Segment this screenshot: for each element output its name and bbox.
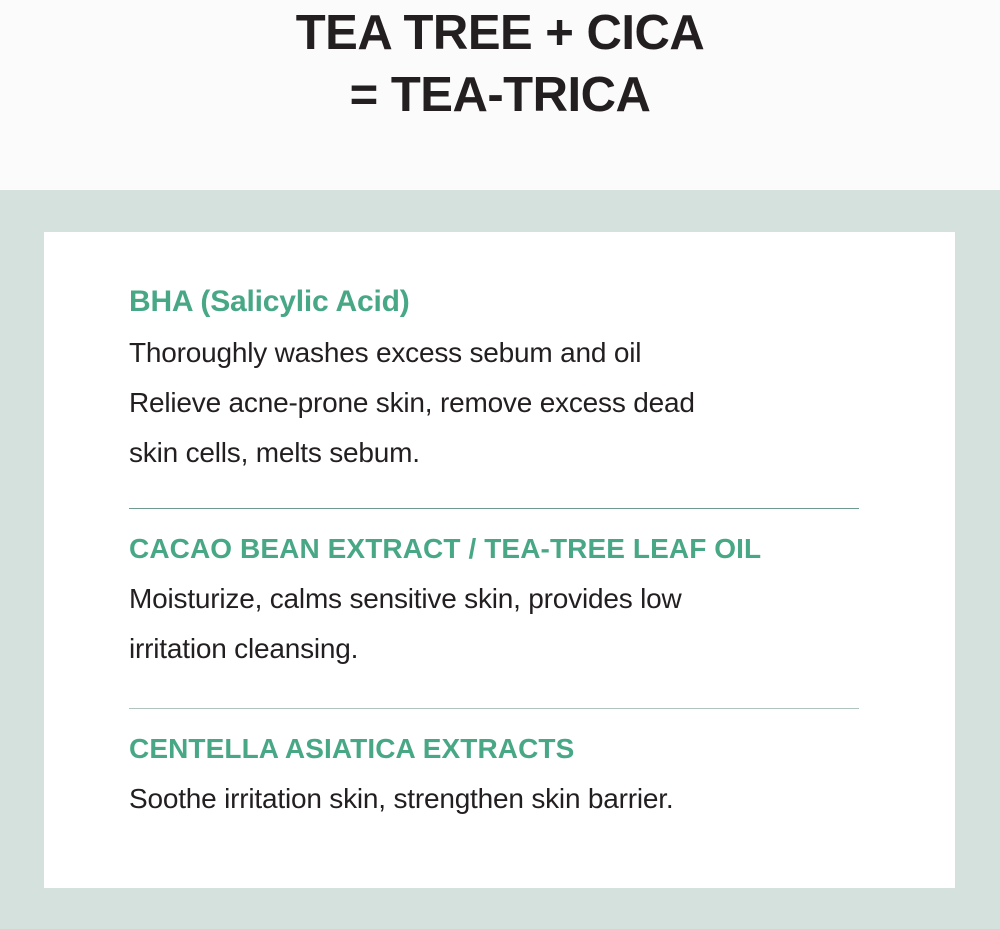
- ingredient-description-cacao-teatree: Moisturize, calms sensitive skin, provid…: [129, 574, 869, 674]
- product-ingredient-infographic: TEA TREE + CICA = TEA-TRICA BHA (Salicyl…: [0, 0, 1000, 929]
- section-divider-2: [129, 708, 859, 709]
- description-line: irritation cleansing.: [129, 624, 869, 674]
- description-line: skin cells, melts sebum.: [129, 428, 869, 478]
- page-title-line-1: TEA TREE + CICA: [296, 2, 705, 64]
- ingredients-card: BHA (Salicylic Acid) Thoroughly washes e…: [44, 232, 955, 888]
- ingredient-description-bha: Thoroughly washes excess sebum and oil R…: [129, 328, 869, 478]
- page-title-line-2: = TEA-TRICA: [350, 64, 651, 126]
- ingredient-name-bha: BHA (Salicylic Acid): [129, 284, 869, 320]
- description-line: Thoroughly washes excess sebum and oil: [129, 328, 869, 378]
- mint-background-panel: BHA (Salicylic Acid) Thoroughly washes e…: [0, 190, 1000, 929]
- ingredient-block-centella: CENTELLA ASIATICA EXTRACTS Soothe irrita…: [129, 732, 869, 824]
- ingredient-name-centella: CENTELLA ASIATICA EXTRACTS: [129, 732, 869, 766]
- ingredient-block-cacao-teatree: CACAO BEAN EXTRACT / TEA-TREE LEAF OIL M…: [129, 532, 869, 674]
- description-line: Soothe irritation skin, strengthen skin …: [129, 774, 869, 824]
- section-divider-1: [129, 508, 859, 509]
- description-line: Moisturize, calms sensitive skin, provid…: [129, 574, 869, 624]
- ingredient-description-centella: Soothe irritation skin, strengthen skin …: [129, 774, 869, 824]
- ingredient-name-cacao-teatree: CACAO BEAN EXTRACT / TEA-TREE LEAF OIL: [129, 532, 869, 566]
- description-line: Relieve acne-prone skin, remove excess d…: [129, 378, 869, 428]
- ingredient-block-bha: BHA (Salicylic Acid) Thoroughly washes e…: [129, 284, 869, 478]
- header-band: TEA TREE + CICA = TEA-TRICA: [0, 0, 1000, 190]
